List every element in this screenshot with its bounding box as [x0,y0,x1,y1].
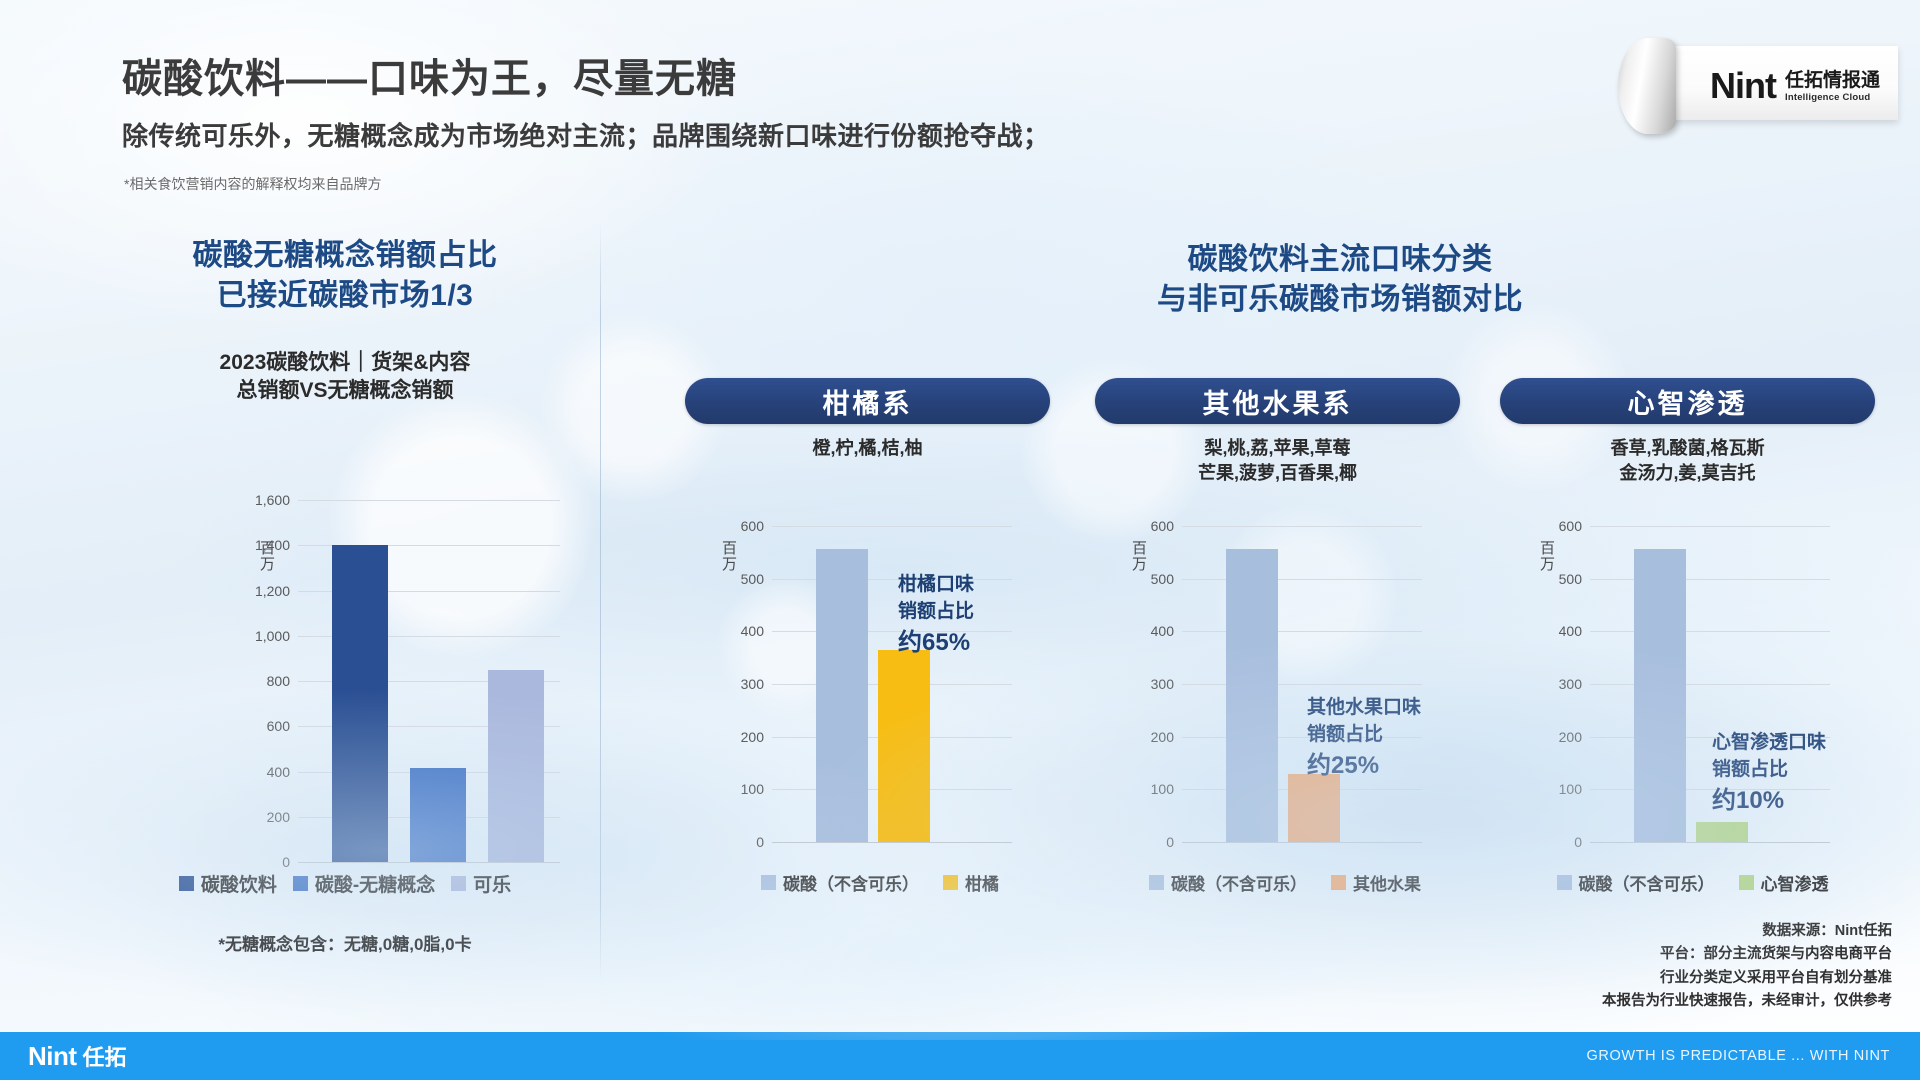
legend-item[interactable]: 其他水果 [1331,870,1421,895]
logo-en-name: Intelligence Cloud [1785,93,1880,103]
gridline [1182,526,1422,527]
other-fruit-chart-legend: 碳酸（不含可乐）其他水果 [1100,870,1470,895]
bar-left-2 [488,670,544,862]
bar-mind-1 [1696,822,1748,842]
footer-logo-cn: 任拓 [83,1040,127,1072]
y-axis-tick-label: 100 [1559,781,1582,797]
y-axis-tick-label: 0 [1574,834,1582,850]
legend-swatch-icon [1557,875,1572,890]
chart-total-vs-sugarfree: 百万 02004006008001,0001,2001,4001,600 [110,480,580,880]
mind-chart-yaxis-title: 百万 [1536,540,1557,572]
legend-item[interactable]: 碳酸（不含可乐） [761,870,919,895]
y-axis-tick-label: 100 [1151,781,1174,797]
y-axis-tick-label: 600 [741,518,764,534]
gridline [772,631,1012,632]
left-panel-heading: 碳酸无糖概念销额占比 已接近碳酸市场1/3 [110,236,580,315]
y-axis-tick-label: 0 [756,834,764,850]
category-pill-citrus[interactable]: 柑橘系 [685,378,1050,424]
bar-other-fruit-0 [1226,549,1278,842]
gridline [1182,631,1422,632]
y-axis-tick-label: 100 [741,781,764,797]
legend-swatch-icon [451,876,466,891]
y-axis-tick-label: 200 [1559,729,1582,745]
mind-annotation-text: 心智渗透口味 销额占比 约10% [1712,732,1826,813]
section-divider [600,222,601,982]
right-panel-heading: 碳酸饮料主流口味分类 与非可乐碳酸市场销额对比 [1030,240,1650,320]
bar-other-fruit-1 [1288,774,1340,842]
y-axis-tick-label: 200 [267,809,290,825]
source-line-1: 数据来源：Nint任拓 [1602,920,1892,943]
legend-label: 其他水果 [1353,870,1421,895]
nint-logo: Nint 任拓情报通 Intelligence Cloud [1618,34,1898,134]
legend-swatch-icon [943,875,958,890]
chart-citrus: 百万 0100200300400500600 [700,510,1040,860]
gridline [1590,631,1830,632]
logo-cn-name: 任拓情报通 [1785,71,1880,90]
gridline [1182,842,1422,843]
citrus-chart-yaxis-title: 百万 [718,540,739,572]
y-axis-tick-label: 1,400 [255,537,290,553]
legend-swatch-icon [179,876,194,891]
other-fruit-annotation: 其他水果口味 销额占比 约25% [1307,668,1421,783]
legend-label: 碳酸-无糖概念 [315,870,435,897]
source-note: 数据来源：Nint任拓 平台：部分主流货架与内容电商平台 行业分类定义采用平台自… [1602,920,1892,1014]
gridline [1590,684,1830,685]
legend-label: 可乐 [473,870,511,897]
citrus-annotation: 柑橘口味 销额占比 约65% [898,545,974,660]
left-panel-subheading: 2023碳酸饮料｜货架&内容 总销额VS无糖概念销额 [110,349,580,405]
y-axis-tick-label: 400 [1151,623,1174,639]
y-axis-tick-label: 0 [282,854,290,870]
gridline [1590,579,1830,580]
annotation-percent-value: 约25% [1307,752,1379,779]
legend-label: 柑橘 [965,870,999,895]
source-line-4: 本报告为行业快速报告，未经审计，仅供参考 [1602,990,1892,1013]
logo-cn-group: 任拓情报通 Intelligence Cloud [1785,71,1880,105]
y-axis-tick-label: 500 [1559,571,1582,587]
y-axis-tick-label: 1,600 [255,492,290,508]
bar-citrus-0 [816,549,868,842]
source-line-2: 平台：部分主流货架与内容电商平台 [1602,943,1892,966]
left-chart-note: *无糖概念包含：无糖,0糖,0脂,0卡 [110,930,580,955]
bar-left-0 [332,545,388,862]
logo-text-group: Nint 任拓情报通 Intelligence Cloud [1710,68,1880,104]
gridline [298,862,560,863]
citrus-annotation-text: 柑橘口味 销额占比 约65% [898,574,974,655]
legend-swatch-icon [1739,875,1754,890]
bar-left-1 [410,768,466,862]
legend-swatch-icon [1331,875,1346,890]
y-axis-tick-label: 600 [1151,518,1174,534]
gridline [772,526,1012,527]
bar-mind-0 [1634,549,1686,842]
legend-item[interactable]: 柑橘 [943,870,999,895]
other-fruit-annotation-text: 其他水果口味 销额占比 约25% [1307,697,1421,778]
left-chart-legend: 碳酸饮料碳酸-无糖概念可乐 [110,870,580,897]
legend-item[interactable]: 心智渗透 [1739,870,1829,895]
footer-logo-name: Nint [28,1041,77,1072]
footer-logo: Nint 任拓 [28,1040,127,1072]
legend-item[interactable]: 可乐 [451,870,511,897]
left-heading-line1: 碳酸无糖概念销额占比 [110,236,580,276]
gridline [772,842,1012,843]
y-axis-tick-label: 300 [1151,676,1174,692]
legend-swatch-icon [293,876,308,891]
legend-label: 碳酸（不含可乐） [1171,870,1307,895]
legend-label: 碳酸（不含可乐） [783,870,919,895]
left-subheading-line1: 2023碳酸饮料｜货架&内容 [110,349,580,377]
y-axis-tick-label: 0 [1166,834,1174,850]
legend-label: 碳酸饮料 [201,870,277,897]
y-axis-tick-label: 400 [1559,623,1582,639]
y-axis-tick-label: 800 [267,673,290,689]
y-axis-tick-label: 400 [741,623,764,639]
header-footnote: *相关食饮营销内容的解释权均来自品牌方 [124,174,381,194]
annotation-percent-value: 约10% [1712,787,1784,814]
category-items-citrus: 橙,柠,橘,桔,柚 [685,436,1050,461]
y-axis-tick-label: 500 [741,571,764,587]
y-axis-tick-label: 200 [741,729,764,745]
y-axis-tick-label: 1,000 [255,628,290,644]
right-heading-line2: 与非可乐碳酸市场销额对比 [1030,280,1650,320]
y-axis-tick-label: 200 [1151,729,1174,745]
y-axis-tick-label: 600 [267,718,290,734]
gridline [1182,579,1422,580]
legend-item[interactable]: 碳酸（不含可乐） [1149,870,1307,895]
left-heading-line2: 已接近碳酸市场1/3 [110,276,580,316]
gridline [1590,526,1830,527]
legend-item[interactable]: 碳酸饮料 [179,870,277,897]
gridline [1590,842,1830,843]
left-panel-heading-block: 碳酸无糖概念销额占比 已接近碳酸市场1/3 2023碳酸饮料｜货架&内容 总销额… [110,236,580,405]
category-items-other-fruit: 梨,桃,荔,苹果,草莓 芒果,菠萝,百香果,椰 [1095,436,1460,486]
right-heading-line1: 碳酸饮料主流口味分类 [1030,240,1650,280]
footer-bar: Nint 任拓 GROWTH IS PREDICTABLE ... WITH N… [0,1032,1920,1080]
left-chart-plot-area: 02004006008001,0001,2001,4001,600 [298,500,560,862]
category-pill-mind[interactable]: 心智渗透 [1500,378,1875,424]
page-title: 碳酸饮料——口味为王，尽量无糖 [122,46,737,104]
bar-citrus-1 [878,650,930,842]
y-axis-tick-label: 300 [1559,676,1582,692]
logo-name: Nint [1710,68,1776,104]
legend-item[interactable]: 碳酸（不含可乐） [1557,870,1715,895]
footer-tagline: GROWTH IS PREDICTABLE ... WITH NINT [1587,1048,1891,1064]
page-subtitle: 除传统可乐外，无糖概念成为市场绝对主流；品牌围绕新口味进行份额抢夺战； [122,116,1050,153]
annotation-percent-value: 约65% [898,629,970,656]
y-axis-tick-label: 400 [267,764,290,780]
legend-item[interactable]: 碳酸-无糖概念 [293,870,435,897]
fruit-chart-yaxis-title: 百万 [1128,540,1149,572]
mind-annotation: 心智渗透口味 销额占比 约10% [1712,703,1826,818]
source-line-3: 行业分类定义采用平台自有划分基准 [1602,967,1892,990]
y-axis-tick-label: 1,200 [255,583,290,599]
citrus-chart-legend: 碳酸（不含可乐）柑橘 [700,870,1060,895]
y-axis-tick-label: 500 [1151,571,1174,587]
left-subheading-line2: 总销额VS无糖概念销额 [110,377,580,405]
citrus-chart-plot-area: 0100200300400500600 [772,526,1012,842]
legend-swatch-icon [761,875,776,890]
slide-canvas: 碳酸饮料——口味为王，尽量无糖 除传统可乐外，无糖概念成为市场绝对主流；品牌围绕… [0,0,1920,1080]
gridline [298,500,560,501]
y-axis-tick-label: 600 [1559,518,1582,534]
category-pill-other-fruit[interactable]: 其他水果系 [1095,378,1460,424]
gridline [772,579,1012,580]
mind-chart-legend: 碳酸（不含可乐）心智渗透 [1505,870,1880,895]
category-items-mind: 香草,乳酸菌,格瓦斯 金汤力,姜,莫吉托 [1500,436,1875,486]
logo-paper-curl-icon [1618,38,1676,134]
legend-swatch-icon [1149,875,1164,890]
legend-label: 碳酸（不含可乐） [1579,870,1715,895]
legend-label: 心智渗透 [1761,870,1829,895]
y-axis-tick-label: 300 [741,676,764,692]
